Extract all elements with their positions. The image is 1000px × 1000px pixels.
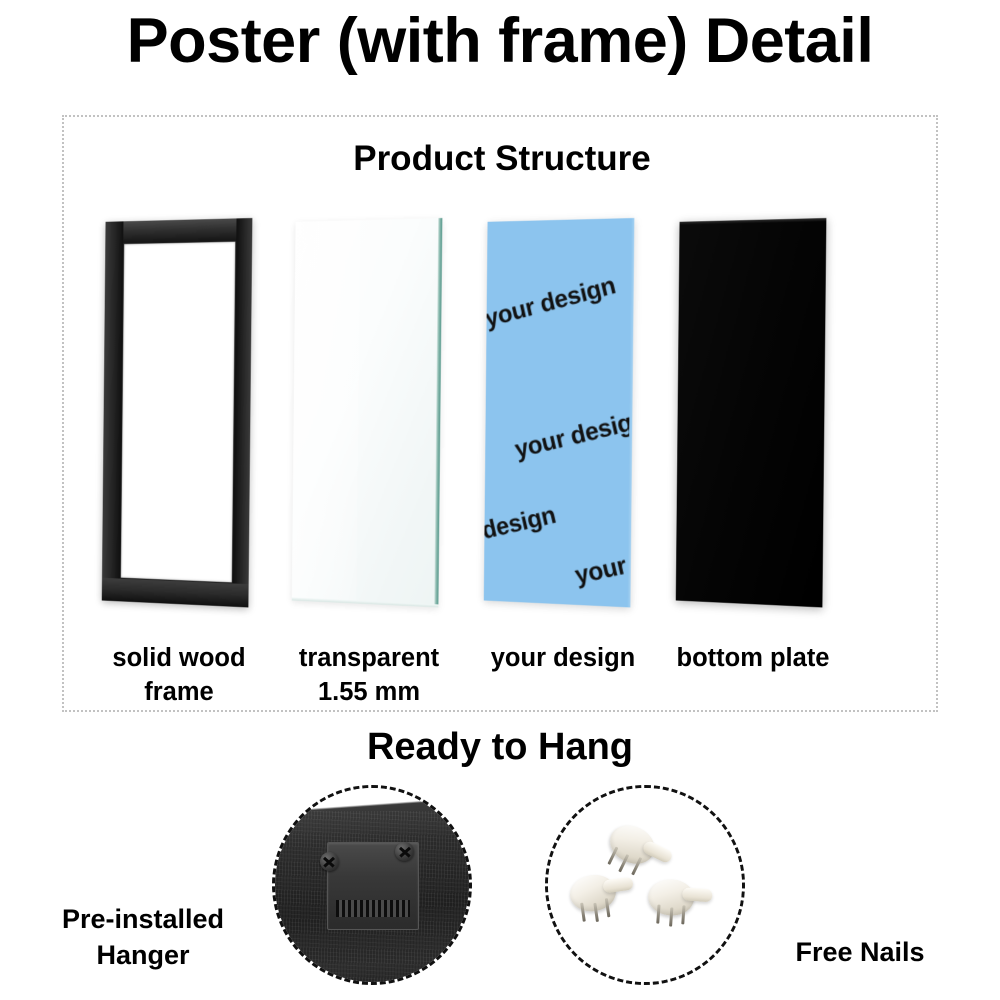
backboard-panel: [676, 218, 827, 607]
caption-line: your design: [456, 642, 670, 676]
caption-free-nails: Free Nails: [735, 937, 985, 968]
frame-outer-molding: [102, 218, 253, 607]
wall-hook: [568, 870, 635, 916]
design-watermark-text: r design: [484, 244, 485, 295]
glass-tilt: [292, 218, 443, 607]
design-watermark-text: ur design: [484, 501, 559, 552]
hook-tail: [602, 877, 634, 894]
design-repeat-text-layer: r design your design esign your design u…: [484, 218, 635, 607]
sawtooth-teeth: [336, 900, 411, 917]
glass-panel: [292, 218, 443, 607]
layer-transparent-sheet: [276, 202, 466, 622]
page-title: Poster (with frame) Detail: [0, 8, 1000, 74]
caption-line: transparent: [262, 642, 476, 676]
phillips-screw-icon: [320, 852, 339, 871]
frame-tilt: [102, 218, 253, 607]
nails-photo: [548, 788, 742, 982]
hook-pin: [669, 907, 673, 926]
hook-pin: [681, 905, 685, 924]
product-structure-panel: Product Structure: [62, 115, 938, 712]
hook-pin: [656, 905, 660, 924]
caption-solid-wood-frame: solid wood frame: [72, 642, 286, 709]
caption-transparent-sheet: transparent 1.55 mm: [262, 642, 476, 709]
frame-inner-window: [121, 242, 235, 583]
frame-bottom-rail: [102, 578, 249, 608]
product-structure-heading: Product Structure: [64, 139, 940, 179]
plate-tilt: [676, 218, 827, 607]
layer-your-design: r design your design esign your design u…: [468, 202, 658, 622]
caption-bottom-plate: bottom plate: [646, 642, 860, 676]
frame-left-rail: [102, 221, 124, 601]
wall-hook: [603, 818, 675, 879]
design-watermark-text: your design: [484, 271, 619, 334]
pre-installed-hanger-photo-circle: [272, 785, 472, 985]
frame-perspective-wrapper: [86, 202, 276, 622]
design-right-edge: [627, 218, 634, 607]
caption-pre-installed-hanger: Pre-installed Hanger: [18, 902, 268, 974]
caption-line: Hanger: [18, 938, 268, 974]
caption-line: solid wood: [72, 642, 286, 676]
design-watermark-text: your design: [512, 405, 634, 465]
free-nails-photo-circle: [545, 785, 745, 985]
frame-right-rail: [233, 218, 253, 607]
caption-your-design: your design: [456, 642, 670, 676]
plate-perspective-wrapper: [660, 202, 850, 622]
caption-line: bottom plate: [646, 642, 860, 676]
design-watermark-text: your: [572, 551, 629, 590]
hanger-photo: [275, 788, 469, 982]
ready-to-hang-heading: Ready to Hang: [0, 726, 1000, 769]
layer-solid-wood-frame: [86, 202, 276, 622]
glass-right-edge: [434, 218, 442, 607]
caption-line: Pre-installed: [18, 902, 268, 938]
hook-tail: [682, 887, 713, 902]
wall-hook: [647, 878, 711, 920]
glass-bottom-edge: [292, 598, 439, 608]
exploded-layer-stage: r design your design esign your design u…: [64, 202, 940, 622]
layer-bottom-plate: [660, 202, 850, 622]
glass-perspective-wrapper: [276, 202, 466, 622]
glass-reflection: [292, 220, 361, 603]
design-artwork-panel: r design your design esign your design u…: [484, 218, 635, 607]
caption-line: 1.55 mm: [262, 676, 476, 710]
design-tilt: r design your design esign your design u…: [484, 218, 635, 607]
frame-top-rail: [105, 218, 252, 244]
backboard-top-edge: [680, 218, 827, 225]
caption-line: frame: [72, 676, 286, 710]
design-perspective-wrapper: r design your design esign your design u…: [468, 202, 658, 622]
